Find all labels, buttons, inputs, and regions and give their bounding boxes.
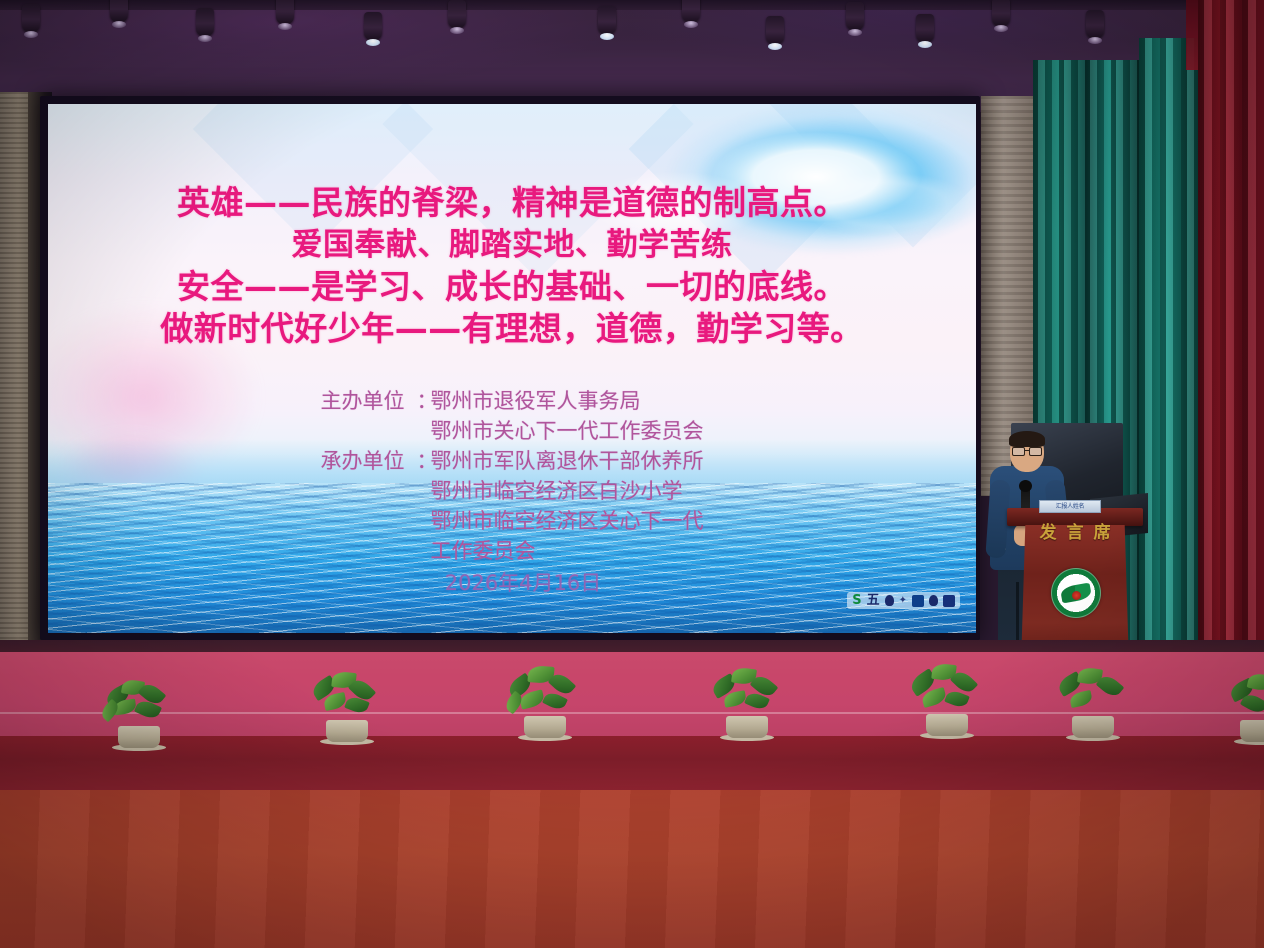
school-emblem — [1051, 568, 1101, 618]
organizer-value: 工作委员会 — [431, 536, 536, 566]
organizer-row: 承办单位 ： 鄂州市临空经济区白沙小学 — [321, 476, 704, 506]
stage-light-fixture — [196, 8, 214, 42]
stage-light-fixture — [992, 0, 1010, 32]
potted-plant — [498, 668, 590, 738]
organizer-row: 承办单位 ： 工作委员会 — [321, 536, 704, 566]
potted-plant — [900, 666, 992, 736]
sparkle-icon: ✦ — [899, 594, 907, 607]
stage-light-fixture — [682, 0, 700, 28]
organizer-row: 主办单位 ： 鄂州市退役军人事务局 — [321, 386, 704, 416]
headline-line-4: 做新时代好少年——有理想，道德，勤学习等。 — [160, 308, 864, 350]
red-curtain — [1198, 0, 1264, 700]
headline-line-2: 爱国奉献、脚踏实地、勤学苦练 — [160, 224, 864, 266]
potted-plant — [1046, 668, 1138, 738]
stage-light-fixture — [766, 16, 784, 50]
stage-light-fixture — [364, 12, 382, 46]
potted-plant — [92, 678, 184, 748]
organizer-value: 鄂州市退役军人事务局 — [431, 386, 641, 416]
organizer-row: 承办单位 ： 鄂州市军队离退休干部休养所 — [321, 446, 704, 476]
emblem-ball-icon — [1072, 591, 1081, 600]
stage-floor — [0, 790, 1264, 948]
frame-icon — [912, 595, 924, 607]
organizer-colon: ： — [417, 386, 431, 416]
moon-icon — [885, 595, 894, 606]
speaker-hair — [1009, 431, 1045, 447]
stage-light-fixture — [846, 2, 864, 36]
stage-scene: 英雄——民族的脊梁，精神是道德的制高点。 爱国奉献、脚踏实地、勤学苦练 安全——… — [0, 0, 1264, 948]
organizer-value: 鄂州市临空经济区白沙小学 — [431, 476, 683, 506]
led-screen: 英雄——民族的脊梁，精神是道德的制高点。 爱国奉献、脚踏实地、勤学苦练 安全——… — [48, 104, 976, 633]
slide-content: 英雄——民族的脊梁，精神是道德的制高点。 爱国奉献、脚踏实地、勤学苦练 安全——… — [48, 104, 976, 633]
organizer-label: 主办单位 — [321, 386, 417, 416]
stage-light-fixture — [1086, 10, 1104, 44]
organizer-block: 主办单位 ： 鄂州市退役军人事务局 主办单位 ： 鄂州市关心下一代工作委员会 承… — [321, 386, 704, 598]
headline-line-1: 英雄——民族的脊梁，精神是道德的制高点。 — [160, 182, 864, 224]
group-icon — [943, 595, 955, 607]
brand-text: 五 — [867, 594, 880, 607]
slide-headline: 英雄——民族的脊梁，精神是道德的制高点。 爱国奉献、脚踏实地、勤学苦练 安全——… — [160, 182, 864, 350]
eyeglasses-icon — [1012, 447, 1042, 454]
slide-logo-strip: S 五 ✦ — [847, 592, 960, 609]
organizer-value: 鄂州市关心下一代工作委员会 — [431, 416, 704, 446]
organizer-value: 鄂州市军队离退休干部休养所 — [431, 446, 704, 476]
organizer-value: 鄂州市临空经济区关心下一代 — [431, 506, 704, 536]
potted-plant — [300, 672, 392, 742]
stage-light-fixture — [110, 0, 128, 28]
potted-plant — [700, 668, 792, 738]
organizer-label: 承办单位 — [321, 446, 417, 476]
potted-plant — [1226, 672, 1264, 742]
stage-light-fixture — [276, 0, 294, 30]
organizer-row: 主办单位 ： 鄂州市关心下一代工作委员会 — [321, 416, 704, 446]
organizer-row: 承办单位 ： 鄂州市临空经济区关心下一代 — [321, 506, 704, 536]
stage-riser-front — [0, 736, 1264, 794]
stage-light-fixture — [448, 0, 466, 34]
organizer-colon: ： — [417, 446, 431, 476]
teal-curtain-secondary — [1139, 38, 1201, 688]
headline-line-3: 安全——是学习、成长的基础、一切的底线。 — [160, 266, 864, 308]
lighting-truss — [0, 0, 1264, 10]
brand-s-icon: S — [852, 594, 861, 607]
podium-label: 发言席 — [1013, 524, 1137, 543]
person-icon — [929, 595, 938, 606]
podium-nameplate: 汇报人姓名 — [1039, 500, 1101, 513]
microphone-head — [1019, 480, 1032, 492]
slide-date: 2026年4月16日 — [321, 568, 704, 598]
stage-light-fixture — [598, 6, 616, 40]
stage-light-fixture — [916, 14, 934, 48]
stage-light-fixture — [22, 4, 40, 38]
